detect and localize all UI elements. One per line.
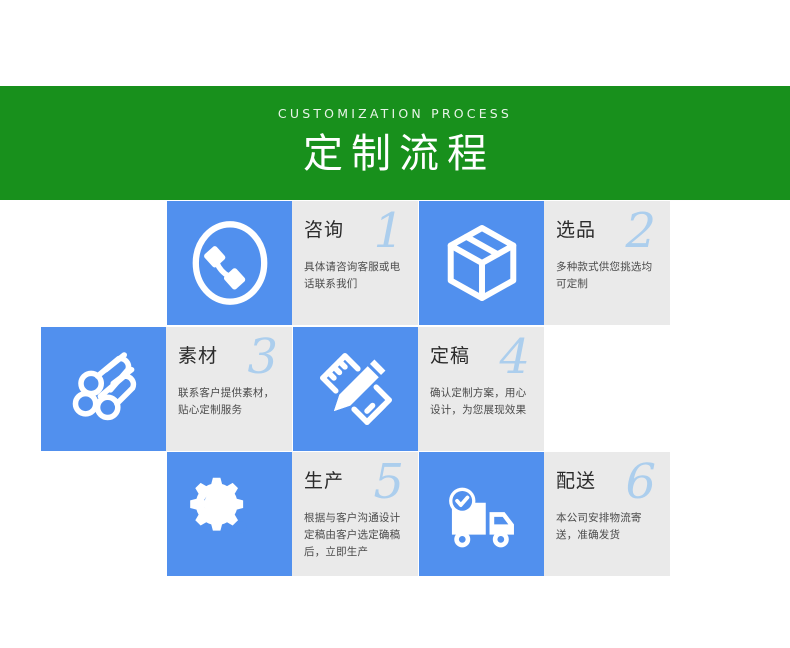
process-step-card[interactable]: 1 咨询 具体请咨询客服或电话联系我们 (167, 201, 418, 325)
process-row-2: 3 素材 联系客户提供素材，贴心定制服务 (41, 327, 545, 451)
step-description: 根据与客户沟通设计定稿由客户选定确稿后，立即生产 (304, 510, 410, 561)
box-package-icon (436, 217, 528, 309)
step-title: 素材 (178, 341, 218, 368)
step-text-tile: 4 定稿 确认定制方案，用心设计，为您展现效果 (418, 327, 544, 451)
step-description: 具体请咨询客服或电话联系我们 (304, 259, 410, 293)
step-text-tile: 1 咨询 具体请咨询客服或电话联系我们 (292, 201, 418, 325)
step-icon-tile (419, 201, 544, 325)
step-icon-tile (419, 452, 544, 576)
gears-icon (183, 467, 277, 561)
process-row-3: 5 生产 根据与客户沟通设计定稿由客户选定确稿后，立即生产 (167, 452, 671, 576)
step-description: 多种款式供您挑选均可定制 (556, 259, 662, 293)
step-text-tile: 5 生产 根据与客户沟通设计定稿由客户选定确稿后，立即生产 (292, 452, 418, 576)
step-description: 本公司安排物流寄送，准确发货 (556, 510, 662, 544)
process-step-card[interactable]: 3 素材 联系客户提供素材，贴心定制服务 (41, 327, 292, 451)
process-step-card[interactable]: 6 配送 本公司安排物流寄送，准确发货 (419, 452, 670, 576)
phone-circle-icon (185, 218, 275, 308)
step-number: 4 (499, 329, 530, 385)
step-title: 定稿 (430, 341, 470, 368)
process-step-card[interactable]: 2 选品 多种款式供您挑选均可定制 (419, 201, 670, 325)
page-title: 定制流程 (0, 128, 790, 180)
step-number: 5 (373, 454, 404, 510)
process-step-grid: 1 咨询 具体请咨询客服或电话联系我们 (0, 200, 790, 580)
step-text-tile: 2 选品 多种款式供您挑选均可定制 (544, 201, 670, 325)
process-step-card[interactable]: 4 定稿 确认定制方案，用心设计，为您展现效果 (293, 327, 544, 451)
step-title: 配送 (556, 466, 596, 493)
step-text-tile: 6 配送 本公司安排物流寄送，准确发货 (544, 452, 670, 576)
process-row-1: 1 咨询 具体请咨询客服或电话联系我们 (167, 201, 671, 325)
step-icon-tile (167, 201, 292, 325)
material-rings-icon (58, 343, 150, 435)
step-text-tile: 3 素材 联系客户提供素材，贴心定制服务 (166, 327, 292, 451)
delivery-truck-icon (435, 467, 529, 561)
step-number: 6 (625, 454, 656, 510)
step-description: 确认定制方案，用心设计，为您展现效果 (430, 385, 536, 419)
step-description: 联系客户提供素材，贴心定制服务 (178, 385, 284, 419)
step-number: 3 (247, 329, 278, 385)
header-eyebrow-text: CUSTOMIZATION PROCESS (0, 106, 790, 121)
page-header-band: CUSTOMIZATION PROCESS 定制流程 (0, 86, 790, 200)
step-title: 咨询 (304, 215, 344, 242)
page-root: CUSTOMIZATION PROCESS 定制流程 (0, 0, 790, 648)
step-icon-tile (167, 452, 292, 576)
process-step-card[interactable]: 5 生产 根据与客户沟通设计定稿由客户选定确稿后，立即生产 (167, 452, 418, 576)
step-number: 2 (625, 203, 656, 259)
step-icon-tile (293, 327, 418, 451)
step-icon-tile (41, 327, 166, 451)
pencil-ruler-icon (310, 343, 402, 435)
step-number: 1 (373, 203, 404, 259)
step-title: 生产 (304, 466, 344, 493)
step-title: 选品 (556, 215, 596, 242)
